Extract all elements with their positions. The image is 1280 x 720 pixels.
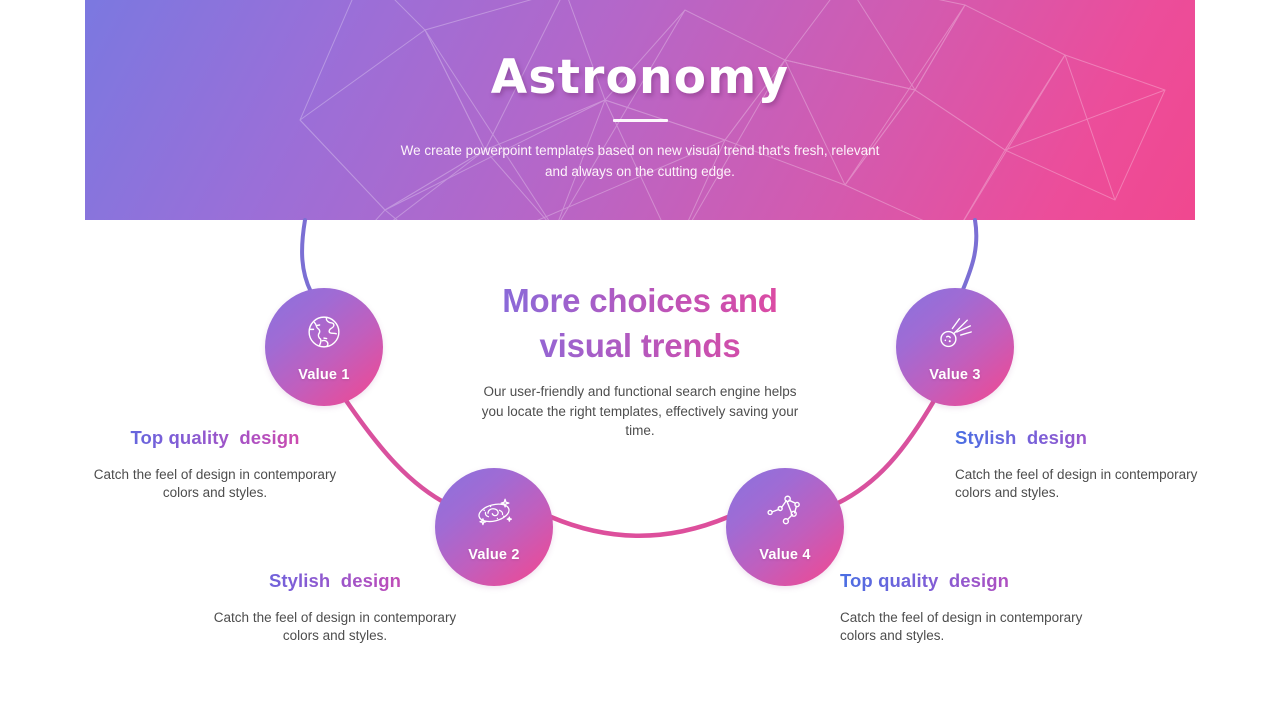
galaxy-icon [471, 491, 517, 538]
comet-icon [933, 311, 977, 358]
value-heading-3: Stylish design [955, 427, 1215, 449]
value-node-1[interactable]: Value 1 [265, 288, 383, 406]
value-node-4[interactable]: Value 4 [726, 468, 844, 586]
connector-value1-to-value2 [345, 399, 449, 505]
value-heading-1: Top quality design [85, 427, 345, 449]
center-block: More choices and visual trends Our user-… [455, 278, 825, 440]
value-text-block-2: Stylish design Catch the feel of design … [205, 570, 465, 645]
value-description-1: Catch the feel of design in contemporary… [85, 466, 345, 502]
header-banner: Astronomy We create powerpoint templates… [85, 0, 1195, 220]
globe-icon [303, 311, 345, 358]
value-node-2[interactable]: Value 2 [435, 468, 553, 586]
value-node-4-label: Value 4 [759, 547, 810, 563]
value-node-3-label: Value 3 [929, 367, 980, 383]
header-content: Astronomy We create powerpoint templates… [85, 0, 1195, 183]
constellation-icon [763, 491, 807, 538]
value-node-1-label: Value 1 [298, 367, 349, 383]
value-text-block-3: Stylish design Catch the feel of design … [955, 427, 1215, 502]
value-node-1-inner: Value 1 [265, 288, 383, 406]
value-text-block-4: Top quality design Catch the feel of des… [840, 570, 1100, 645]
value-description-4: Catch the feel of design in contemporary… [840, 609, 1100, 645]
value-description-3: Catch the feel of design in contemporary… [955, 466, 1215, 502]
center-description: Our user-friendly and functional search … [480, 382, 800, 439]
connector-header-to-value1 [302, 220, 311, 292]
banner-subtitle: We create powerpoint templates based on … [390, 141, 890, 183]
value-node-3-inner: Value 3 [896, 288, 1014, 406]
value-heading-2: Stylish design [205, 570, 465, 592]
connector-header-to-value3 [962, 220, 976, 292]
connector-value2-to-value4 [551, 517, 728, 536]
connector-value4-to-value3 [838, 399, 935, 503]
value-node-2-label: Value 2 [468, 547, 519, 563]
value-node-4-inner: Value 4 [726, 468, 844, 586]
title-divider [613, 119, 668, 122]
value-heading-4: Top quality design [840, 570, 1100, 592]
page-title: Astronomy [85, 0, 1195, 102]
value-node-2-inner: Value 2 [435, 468, 553, 586]
center-heading: More choices and visual trends [455, 278, 825, 368]
value-text-block-1: Top quality design Catch the feel of des… [85, 427, 345, 502]
value-node-3[interactable]: Value 3 [896, 288, 1014, 406]
value-description-2: Catch the feel of design in contemporary… [205, 609, 465, 645]
